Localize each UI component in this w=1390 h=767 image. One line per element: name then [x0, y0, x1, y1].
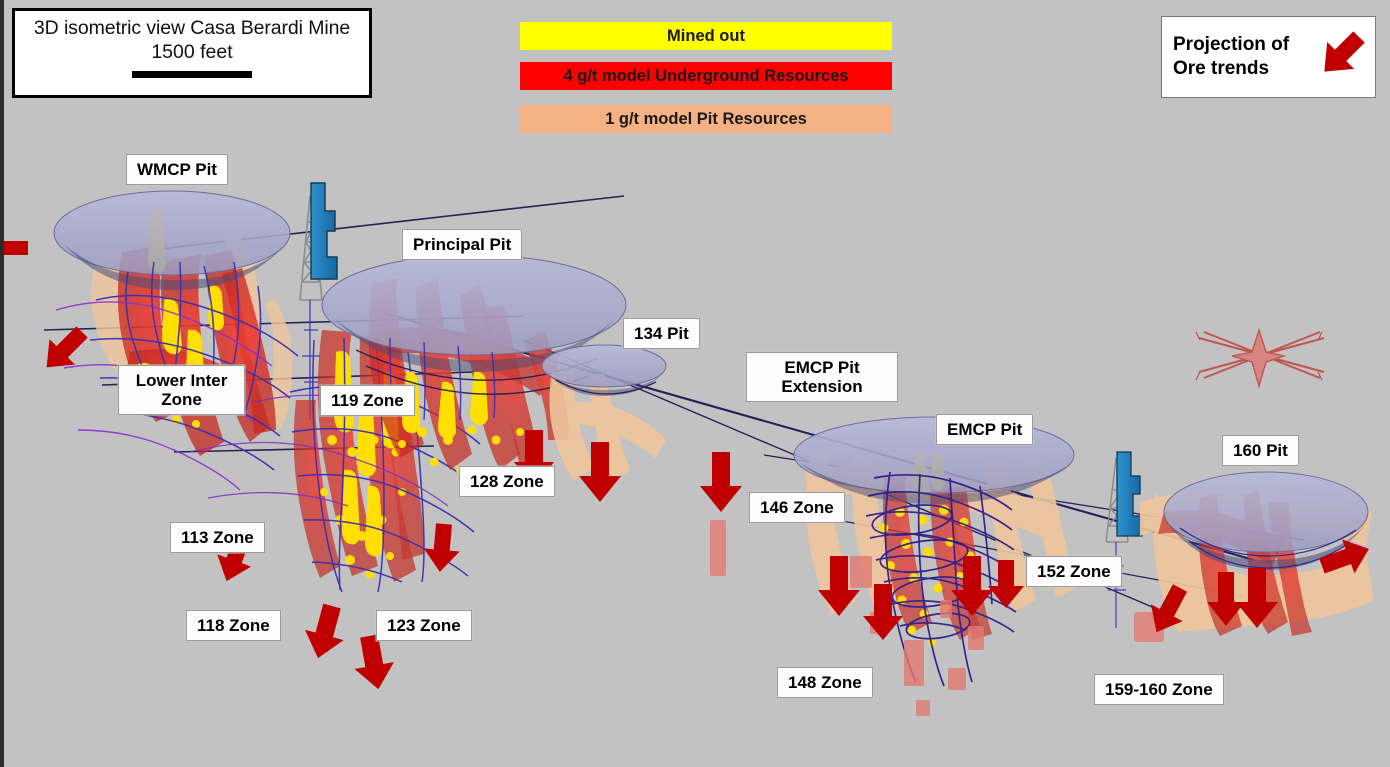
projection-line1: Projection of	[1173, 33, 1301, 57]
pit-134-shell	[542, 345, 666, 387]
pit-160-system	[1140, 472, 1374, 636]
legend-label-mined-out: Mined out	[667, 27, 745, 46]
pit-160-resources	[1140, 490, 1374, 632]
legend-item-mined-out: Mined out	[520, 22, 892, 50]
wmcp-pit-shell	[54, 191, 290, 275]
arrow-down-left-icon	[1301, 27, 1371, 87]
zone-119-drill-traces	[290, 338, 480, 592]
legend-label-pit-resources: 1 g/t model Pit Resources	[605, 110, 807, 129]
label-wmcp-pit: WMCP Pit	[126, 154, 228, 185]
label-134-pit: 134 Pit	[623, 318, 700, 349]
projection-of-ore-trends-box: Projection of Ore trends	[1161, 16, 1376, 98]
mine-3d-isometric-figure: 3D isometric view Casa Berardi Mine 1500…	[0, 0, 1390, 767]
projection-text: Projection of Ore trends	[1162, 33, 1301, 81]
emcp-pit-system	[794, 417, 1076, 686]
wmcp-pit-system	[54, 191, 298, 490]
emcp-pit-resources	[804, 452, 1076, 618]
legend-label-underground-resources: 4 g/t model Underground Resources	[563, 67, 848, 86]
pit-134-system	[542, 345, 666, 482]
zone-123-body	[294, 330, 424, 582]
legend-item-underground-resources: 4 g/t model Underground Resources	[520, 62, 892, 90]
label-lower-inter-zone: Lower Inter Zone	[118, 365, 245, 415]
label-emcp-pit: EMCP Pit	[936, 414, 1033, 445]
emcp-underground-resources	[883, 476, 992, 640]
scale-bar	[132, 71, 252, 78]
principal-mined-out	[398, 372, 524, 474]
label-128-zone: 128 Zone	[459, 466, 555, 497]
principal-pit-shell	[322, 255, 626, 355]
label-160-pit: 160 Pit	[1222, 435, 1299, 466]
compass-rose-icon	[1196, 330, 1324, 386]
wmcp-underground-resources	[118, 244, 276, 456]
label-emcp-pit-extension: EMCP Pit Extension	[746, 352, 898, 402]
label-159-160-zone: 159-160 Zone	[1094, 674, 1224, 705]
figure-title-box: 3D isometric view Casa Berardi Mine 1500…	[12, 8, 372, 98]
legend-item-pit-resources: 1 g/t model Pit Resources	[520, 105, 892, 133]
label-146-zone: 146 Zone	[749, 492, 845, 523]
label-119-zone: 119 Zone	[320, 385, 415, 416]
emcp-drill-traces	[866, 472, 1016, 686]
label-148-zone: 148 Zone	[777, 667, 873, 698]
pit-160-underground	[1158, 490, 1312, 636]
label-principal-pit: Principal Pit	[402, 229, 522, 260]
figure-title-line1: 3D isometric view Casa Berardi Mine	[34, 17, 350, 40]
projection-line2: Ore trends	[1173, 57, 1301, 81]
pit-160-shell	[1164, 472, 1368, 552]
emcp-mined-out	[880, 452, 975, 646]
label-118-zone: 118 Zone	[186, 610, 281, 641]
label-152-zone: 152 Zone	[1026, 556, 1122, 587]
principal-pit-system	[322, 255, 626, 474]
label-123-zone: 123 Zone	[376, 610, 472, 641]
principal-underground-resources	[368, 278, 568, 470]
label-113-zone: 113 Zone	[170, 522, 265, 553]
figure-scale-label: 1500 feet	[151, 41, 232, 64]
headframe-east-icon	[1106, 452, 1142, 628]
pit-134-resources	[549, 372, 666, 482]
